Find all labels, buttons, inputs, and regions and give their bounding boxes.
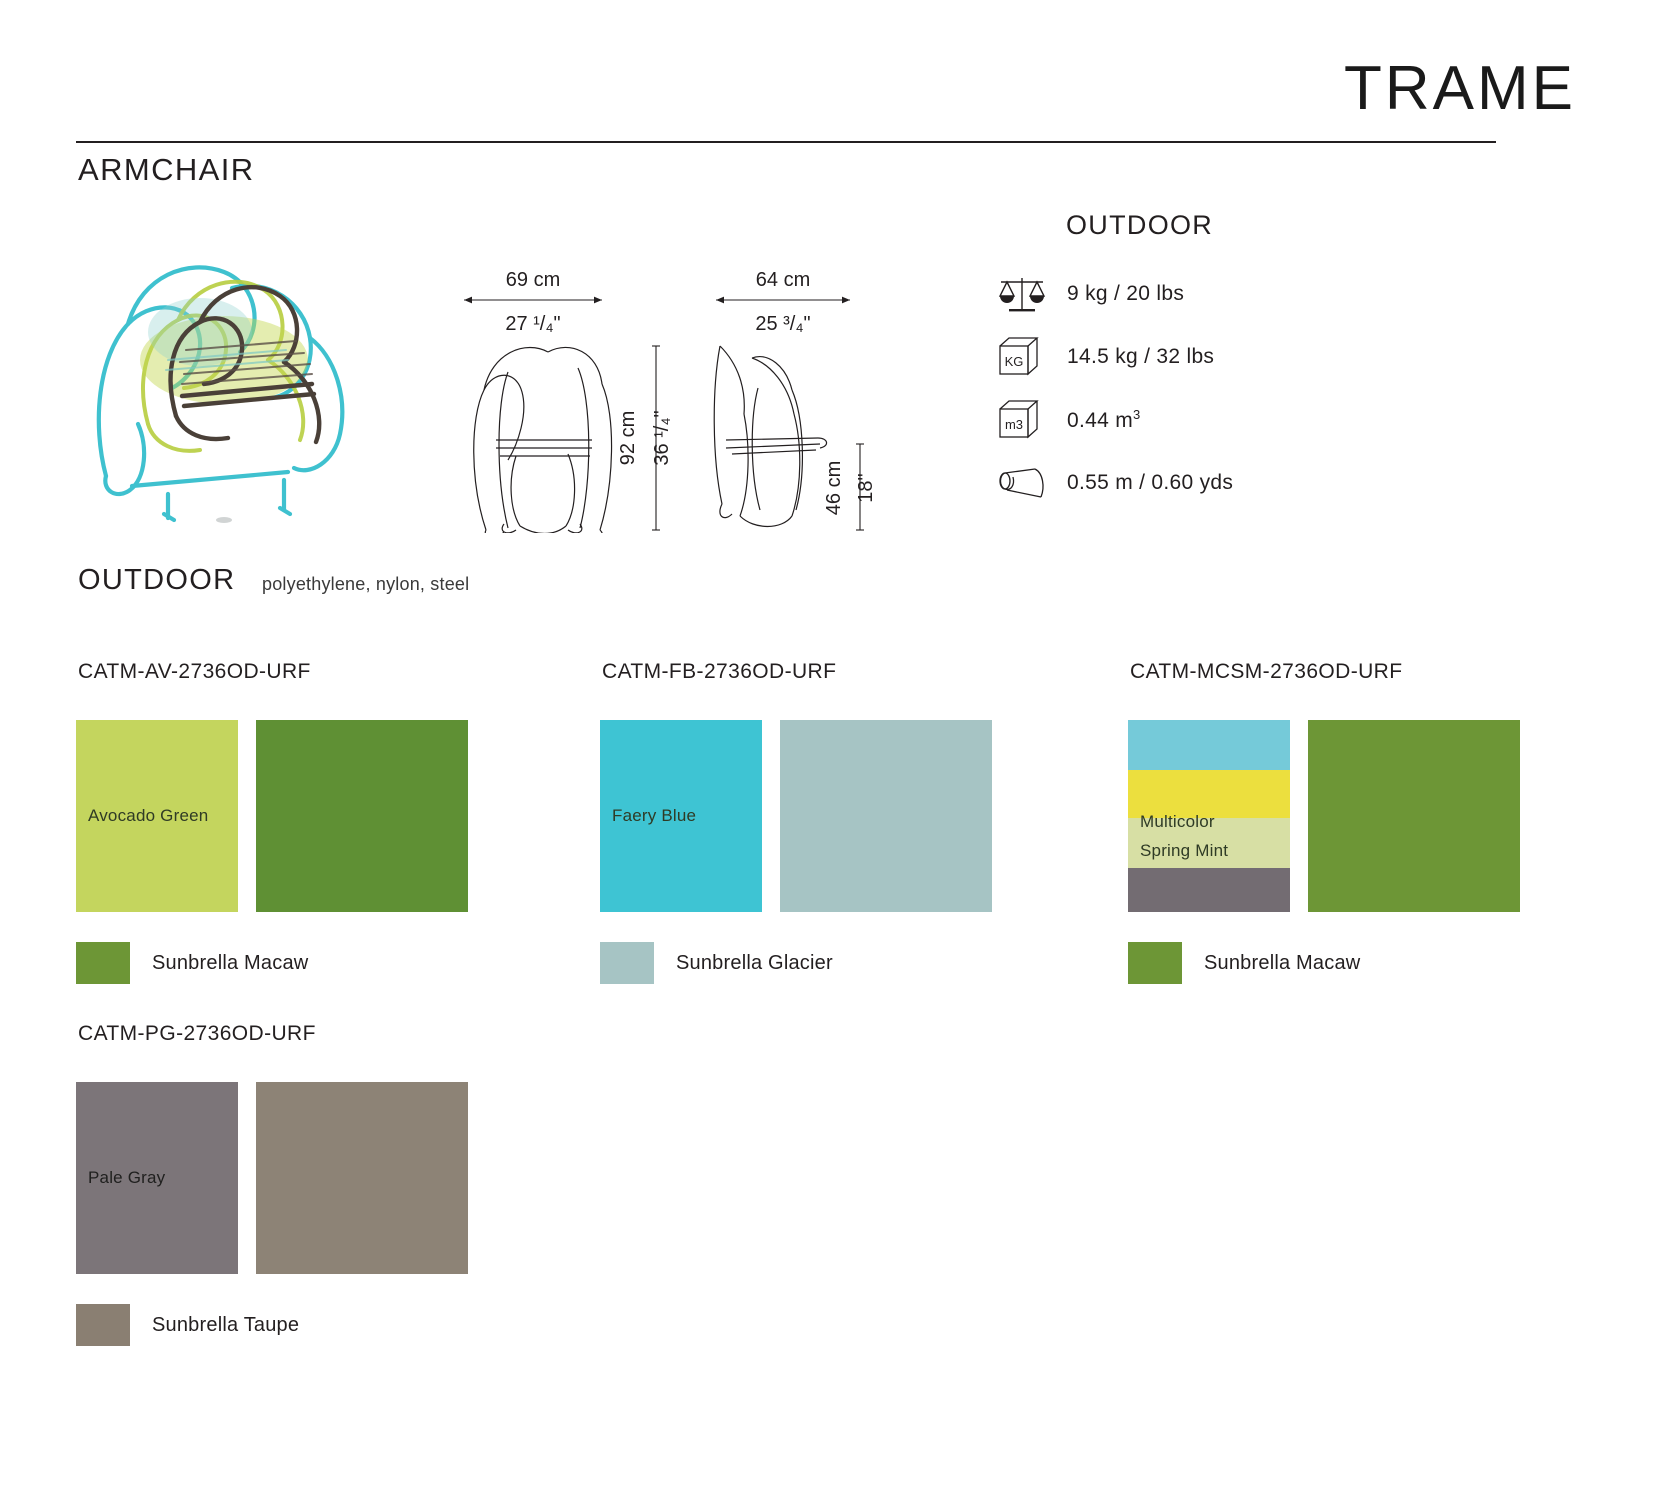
- page-title: ARMCHAIR: [78, 152, 255, 188]
- spec-value-weight: 9 kg / 20 lbs: [1067, 282, 1184, 306]
- spec-value-shipping-weight: 14.5 kg / 32 lbs: [1067, 345, 1214, 369]
- depth-in-label: 25 ³/₄": [755, 313, 810, 335]
- height-in-label: 36 ¹/₄": [651, 410, 673, 465]
- frame-color-swatch[interactable]: Faery Blue: [600, 720, 762, 912]
- legend-color-chip: [1128, 942, 1182, 984]
- specs-list: 9 kg / 20 lbs KG 14.5 kg / 32 lbs: [995, 262, 1455, 514]
- depth-cm-label: 64 cm: [756, 269, 810, 291]
- seat-in-label: 18": [855, 473, 877, 502]
- band-cyan: [1128, 720, 1290, 770]
- spec-row-weight: 9 kg / 20 lbs: [995, 262, 1455, 325]
- variant-sku: CATM-FB-2736OD-URF: [602, 660, 1080, 684]
- box-kg-icon: KG: [995, 334, 1067, 380]
- box-m3-icon: m3: [995, 397, 1067, 443]
- svg-text:KG: KG: [1005, 354, 1024, 369]
- svg-text:m3: m3: [1005, 417, 1023, 432]
- materials-description: polyethylene, nylon, steel: [262, 574, 469, 595]
- textile-swatch[interactable]: [256, 720, 468, 912]
- frame-color-label: Pale Gray: [88, 1165, 165, 1191]
- materials-heading: OUTDOOR: [78, 564, 235, 597]
- swatch-pair: Faery Blue: [600, 720, 1080, 912]
- variant-group-avocado-green: CATM-AV-2736OD-URF Avocado Green Sunbrel…: [76, 660, 556, 984]
- variant-group-pale-gray: CATM-PG-2736OD-URF Pale Gray Sunbrella T…: [76, 1022, 556, 1346]
- frame-color-swatch[interactable]: Avocado Green: [76, 720, 238, 912]
- header-divider: [76, 141, 1496, 143]
- spec-value-volume: 0.44 m3: [1067, 407, 1141, 433]
- legend-label: Sunbrella Glacier: [676, 952, 833, 975]
- specs-heading: OUTDOOR: [1066, 210, 1213, 241]
- variant-sku: CATM-PG-2736OD-URF: [78, 1022, 556, 1046]
- frame-color-swatch[interactable]: Pale Gray: [76, 1082, 238, 1274]
- frame-color-label: Avocado Green: [88, 803, 208, 829]
- textile-swatch[interactable]: [780, 720, 992, 912]
- frame-color-label-line2: Spring Mint: [1140, 841, 1228, 860]
- legend-color-chip: [76, 942, 130, 984]
- legend-label: Sunbrella Taupe: [152, 1314, 299, 1337]
- swatch-pair: Avocado Green: [76, 720, 556, 912]
- variant-sku: CATM-AV-2736OD-URF: [78, 660, 556, 684]
- legend-color-chip: [76, 1304, 130, 1346]
- variant-group-faery-blue: CATM-FB-2736OD-URF Faery Blue Sunbrella …: [600, 660, 1080, 984]
- fabric-roll-icon: [995, 463, 1067, 503]
- textile-swatch[interactable]: [1308, 720, 1520, 912]
- variant-group-multicolor-spring-mint: CATM-MCSM-2736OD-URF Multicolor Spring M…: [1128, 660, 1608, 984]
- frame-color-label: Faery Blue: [612, 803, 696, 829]
- spec-row-volume: m3 0.44 m3: [995, 388, 1455, 451]
- width-cm-label: 69 cm: [506, 269, 560, 291]
- frame-color-label-line1: Multicolor: [1140, 812, 1215, 831]
- height-cm-label: 92 cm: [617, 411, 639, 465]
- textile-legend: Sunbrella Taupe: [76, 1304, 556, 1346]
- spec-value-fabric: 0.55 m / 0.60 yds: [1067, 471, 1233, 495]
- seat-cm-label: 46 cm: [823, 461, 845, 515]
- textile-swatch[interactable]: [256, 1082, 468, 1274]
- textile-legend: Sunbrella Glacier: [600, 942, 1080, 984]
- frame-color-swatch[interactable]: Multicolor Spring Mint: [1128, 720, 1290, 912]
- spec-row-shipping-weight: KG 14.5 kg / 32 lbs: [995, 325, 1455, 388]
- variant-sku: CATM-MCSM-2736OD-URF: [1130, 660, 1608, 684]
- swatch-pair: Pale Gray: [76, 1082, 556, 1274]
- width-in-label: 27 ¹/₄": [505, 313, 560, 335]
- scale-icon: [995, 272, 1067, 316]
- textile-legend: Sunbrella Macaw: [76, 942, 556, 984]
- frame-color-label: Multicolor Spring Mint: [1140, 808, 1228, 866]
- dimension-drawings: 69 cm 27 ¹/₄" 64 cm 25 ³/₄" 92 cm 36 ¹/₄…: [420, 248, 920, 533]
- legend-label: Sunbrella Macaw: [1204, 952, 1360, 975]
- spec-row-fabric: 0.55 m / 0.60 yds: [995, 451, 1455, 514]
- legend-label: Sunbrella Macaw: [152, 952, 308, 975]
- band-gray: [1128, 868, 1290, 912]
- legend-color-chip: [600, 942, 654, 984]
- swatch-pair: Multicolor Spring Mint: [1128, 720, 1608, 912]
- brand-title: TRAME: [1344, 58, 1576, 120]
- spec-sheet-page: TRAME ARMCHAIR: [0, 0, 1654, 1486]
- product-photo: [72, 228, 412, 528]
- textile-legend: Sunbrella Macaw: [1128, 942, 1608, 984]
